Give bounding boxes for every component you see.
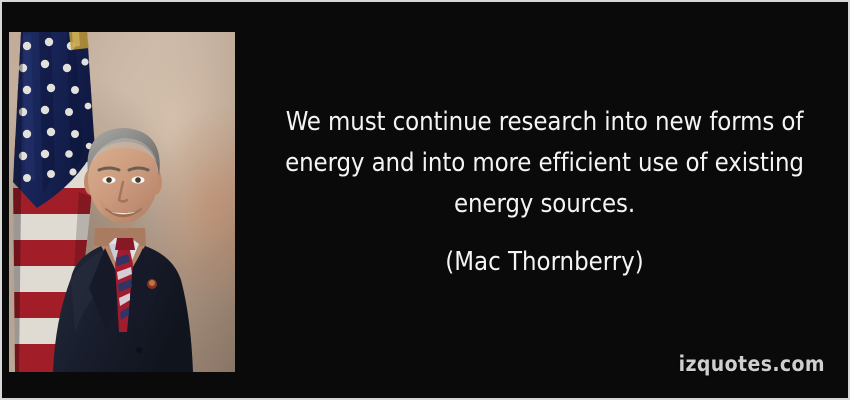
- quote-attribution: (Mac Thornberry): [252, 245, 837, 279]
- portrait-photo: [9, 32, 235, 372]
- site-watermark[interactable]: izquotes.com: [679, 352, 825, 376]
- quote-line-2: energy and into more efficient use of ex…: [252, 143, 837, 184]
- quote-text: We must continue research into new forms…: [252, 102, 837, 225]
- quote-line-1: We must continue research into new forms…: [252, 102, 837, 143]
- quote-line-3: energy sources.: [252, 184, 837, 225]
- quote-card: We must continue research into new forms…: [0, 0, 850, 400]
- portrait-illustration: [9, 32, 235, 372]
